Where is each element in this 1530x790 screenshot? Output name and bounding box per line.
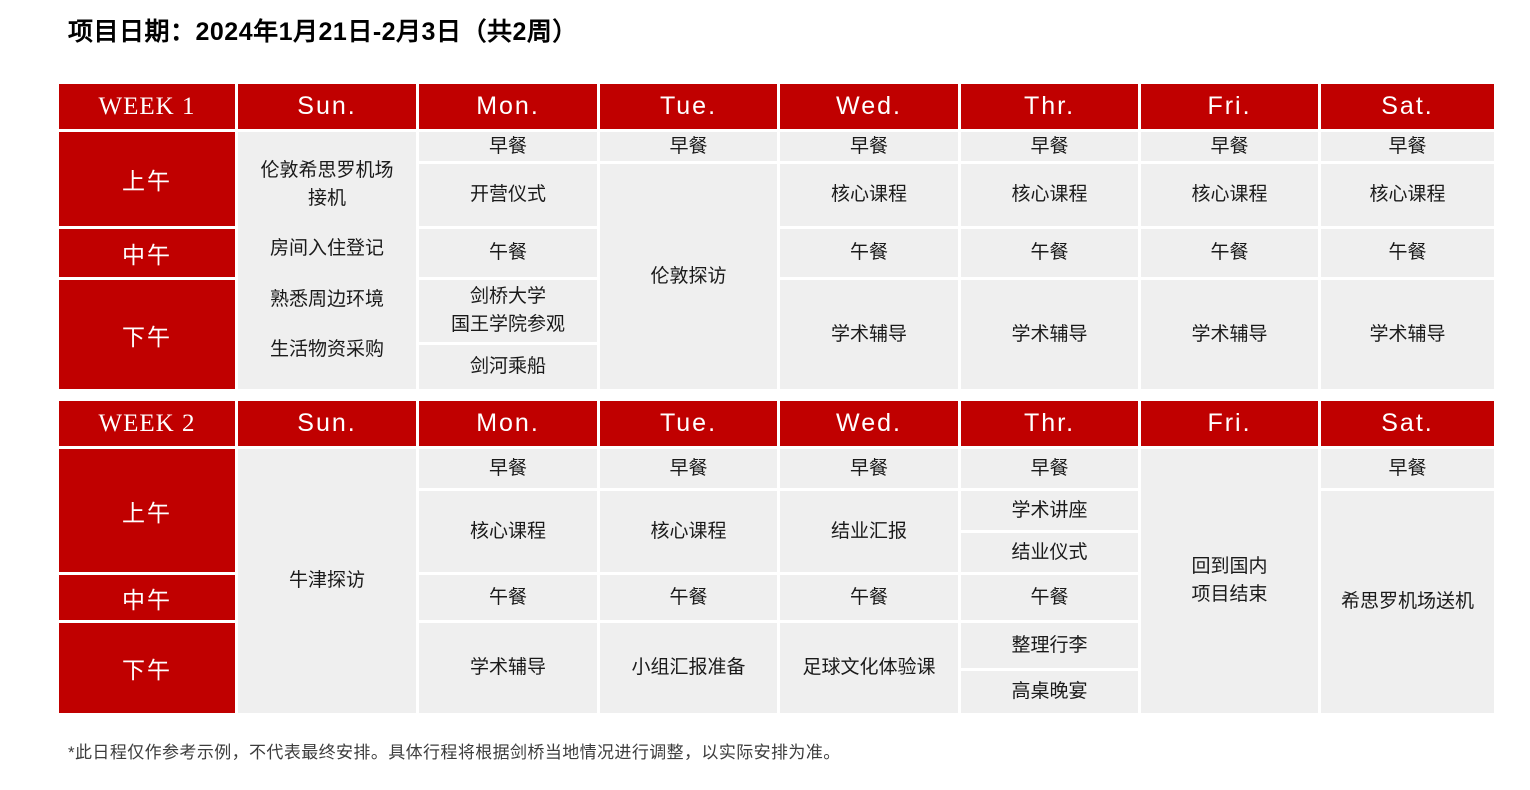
schedule-page: 项目日期：2024年1月21日-2月3日（共2周） WEEK 1 Sun. Mo… [0,0,1530,790]
week1-fri-afternoon: 学术辅导 [1321,280,1494,389]
week2-tue-morning: 核心课程 [600,491,777,572]
week2-thr-morning-2: 结业仪式 [961,533,1138,572]
week1-fri-lunch: 午餐 [1321,229,1494,277]
week1-header-thr: Thr. [961,84,1138,129]
week2-thr-afternoon-2: 高桌晚宴 [961,671,1138,713]
week2-period-afternoon: 下午 [59,623,235,713]
week1-sun-line-3: 房间入住登记 [270,235,384,263]
week2-tue-afternoon: 小组汇报准备 [600,623,777,713]
week2-header-thr: Thr. [961,401,1138,446]
week2-wed-breakfast: 早餐 [780,449,958,488]
week1-table: WEEK 1 Sun. Mon. Tue. Wed. Thr. Fri. Sat… [59,84,1473,389]
week1-wed-breakfast: 早餐 [780,132,958,161]
week1-period-afternoon: 下午 [59,280,235,389]
week1-wed-morning: 核心课程 [961,164,1138,226]
week2-tue-lunch: 午餐 [600,575,777,620]
week2-mon-afternoon: 学术辅导 [419,623,597,713]
week1-tue-breakfast: 早餐 [600,132,777,161]
week2-thr-lunch: 午餐 [961,575,1138,620]
week2-table: WEEK 2 Sun. Mon. Tue. Wed. Thr. Fri. Sat… [59,401,1473,713]
footnote: *此日程仅作参考示例，不代表最终安排。具体行程将根据剑桥当地情况进行调整，以实际… [68,738,841,763]
week2-fri-breakfast: 早餐 [1321,449,1494,488]
week2-period-morning: 上午 [59,449,235,572]
week2-header-fri: Fri. [1141,401,1318,446]
week1-mon-lunch: 午餐 [419,229,597,277]
week1-sun-line-4: 熟悉周边环境 [270,286,384,314]
week1-thr-lunch: 午餐 [1141,229,1318,277]
week1-tue-lunch: 午餐 [780,229,958,277]
week1-tue-afternoon: 学术辅导 [780,280,958,389]
week2-mon-lunch: 午餐 [419,575,597,620]
week1-mon-afternoon-1: 剑桥大学 国王学院参观 [419,280,597,342]
week1-sun-cell: 伦敦希思罗机场 接机 房间入住登记 熟悉周边环境 生活物资采购 [238,132,416,389]
week1-mon-afternoon-1-line-1: 剑桥大学 [470,283,546,311]
week1-wed-lunch: 午餐 [961,229,1138,277]
week1-tue-morning: 核心课程 [780,164,958,226]
week1-header-fri: Fri. [1141,84,1318,129]
week2-header-wed: Wed. [780,401,958,446]
week2-sat-line-2: 项目结束 [1191,581,1267,609]
week1-header-mon: Mon. [419,84,597,129]
week2-thr-morning-1: 学术讲座 [961,491,1138,530]
week1-header-wed: Wed. [780,84,958,129]
week2-mon-morning: 核心课程 [419,491,597,572]
week1-period-noon: 中午 [59,229,235,277]
week1-header-tue: Tue. [600,84,777,129]
week2-wed-lunch: 午餐 [780,575,958,620]
week1-thr-afternoon: 学术辅导 [1141,280,1318,389]
week2-sat-line-1: 回到国内 [1191,553,1267,581]
week2-fri-allday: 希思罗机场送机 [1321,491,1494,713]
week1-mon-breakfast: 早餐 [419,132,597,161]
week2-wed-morning: 结业汇报 [780,491,958,572]
week1-sat-allday: 伦敦探访 [600,164,777,389]
week1-mon-afternoon-2: 剑河乘船 [419,345,597,389]
week1-sun-line-1: 伦敦希思罗机场 [260,157,393,185]
week2-thr-afternoon-1: 整理行李 [961,623,1138,668]
week1-sun-line-5: 生活物资采购 [270,336,384,364]
week2-header-mon: Mon. [419,401,597,446]
week1-wed-afternoon: 学术辅导 [961,280,1138,389]
week2-sun-allday: 牛津探访 [238,449,416,713]
week1-fri-morning: 核心课程 [1321,164,1494,226]
week1-sun-line-1-2: 伦敦希思罗机场 接机 [260,157,393,212]
week2-label: WEEK 2 [59,401,235,446]
week1-mon-morning: 开营仪式 [419,164,597,226]
week1-period-morning: 上午 [59,132,235,226]
week1-fri-breakfast: 早餐 [1141,132,1318,161]
week1-thr-morning: 核心课程 [1141,164,1318,226]
week2-wed-afternoon: 足球文化体验课 [780,623,958,713]
week2-period-noon: 中午 [59,575,235,620]
week1-mon-afternoon-1-line-2: 国王学院参观 [451,311,565,339]
week1-header-sun: Sun. [238,84,416,129]
week2-header-sun: Sun. [238,401,416,446]
week2-tue-breakfast: 早餐 [600,449,777,488]
page-title: 项目日期：2024年1月21日-2月3日（共2周） [68,12,578,48]
week1-sun-line-2: 接机 [260,185,393,213]
week2-header-sat: Sat. [1321,401,1494,446]
week1-header-sat: Sat. [1321,84,1494,129]
week2-header-tue: Tue. [600,401,777,446]
week1-thr-breakfast: 早餐 [961,132,1138,161]
week1-sat-breakfast: 早餐 [1321,132,1494,161]
week2-sat-allday: 回到国内 项目结束 [1141,449,1318,713]
week2-mon-breakfast: 早餐 [419,449,597,488]
week1-label: WEEK 1 [59,84,235,129]
week2-thr-breakfast: 早餐 [961,449,1138,488]
